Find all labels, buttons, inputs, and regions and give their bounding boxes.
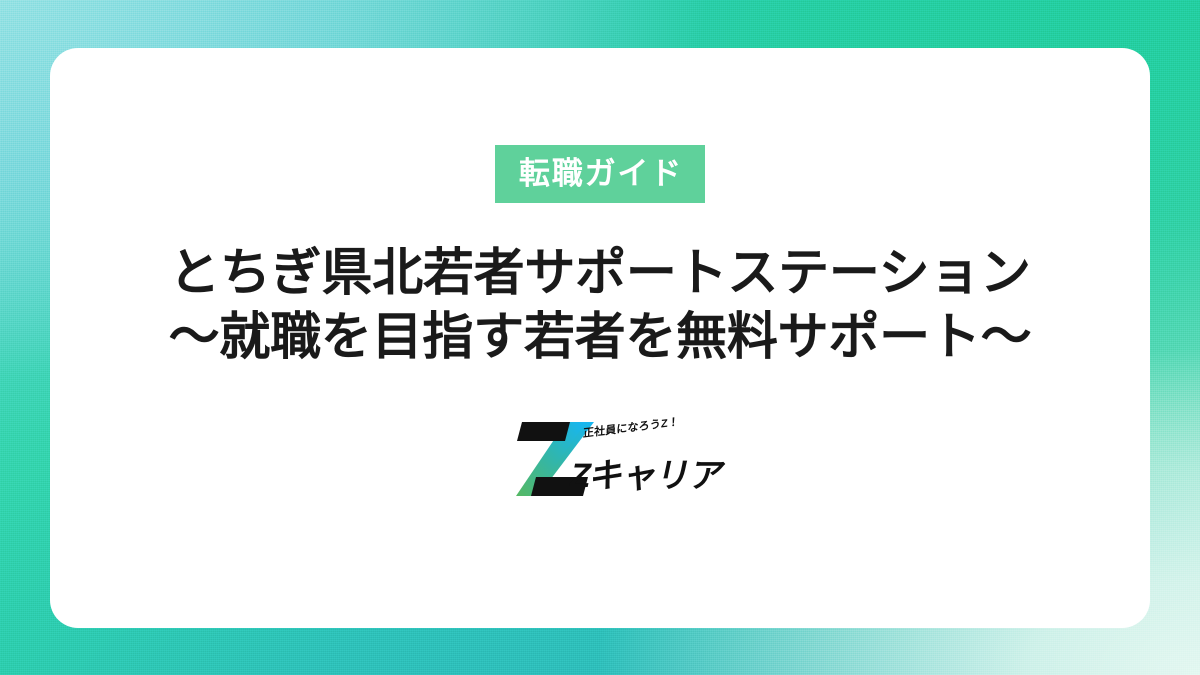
page-title-line-1: とちぎ県北若者サポートステーション [169,241,1032,305]
brand-logo: 正社員になろうZ！ Zキャリア [500,416,700,498]
logo-tagline: 正社員になろうZ！ [583,413,680,441]
page-title-line-2: 〜就職を目指す若者を無料サポート〜 [169,305,1032,369]
page-title: とちぎ県北若者サポートステーション 〜就職を目指す若者を無料サポート〜 [169,241,1032,370]
content-card: 転職ガイド とちぎ県北若者サポートステーション 〜就職を目指す若者を無料サポート… [50,48,1150,628]
category-badge: 転職ガイド [495,145,705,203]
logo-wordmark: Zキャリア [566,448,730,497]
